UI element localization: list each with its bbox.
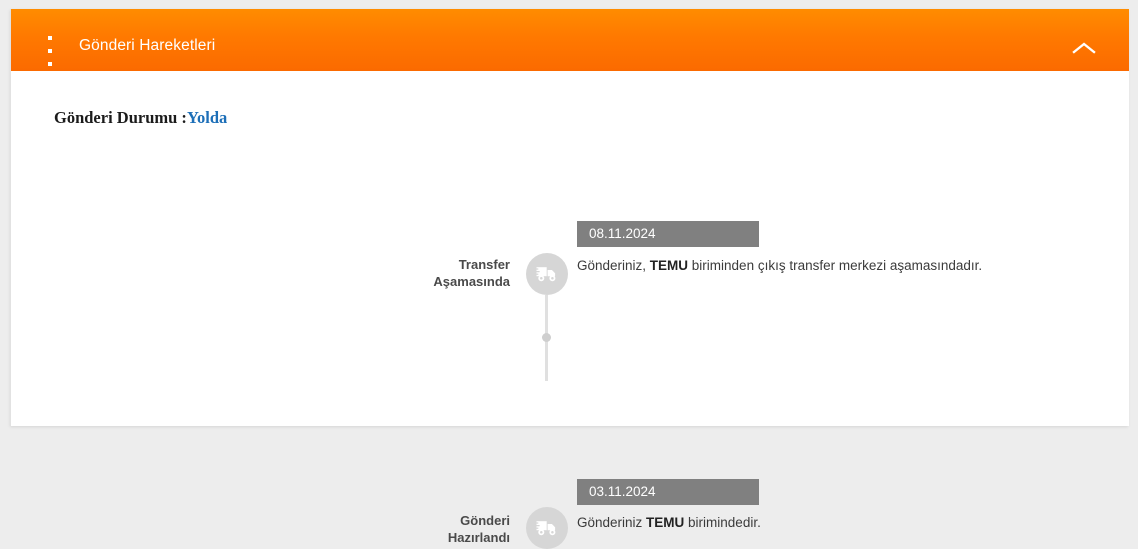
timeline-event-description: Gönderiniz, TEMU biriminden çıkış transf… xyxy=(577,258,982,273)
shipment-status-label: Gönderi Durumu : xyxy=(54,108,187,127)
shipment-movements-card: Gönderi Hareketleri Gönderi Durumu :Yold… xyxy=(10,9,1128,426)
timeline-event: Transfer Aşamasında xyxy=(11,151,1129,277)
desc-text-before: Gönderiniz xyxy=(577,515,646,530)
kebab-menu-icon[interactable] xyxy=(46,36,54,66)
shipment-status-value: Yolda xyxy=(187,108,227,127)
kebab-dot xyxy=(48,36,52,40)
desc-text-bold: TEMU xyxy=(650,258,688,273)
timeline-event-date: 08.11.2024 xyxy=(577,221,759,247)
timeline-event-label: Gönderi Hazırlandı xyxy=(350,512,510,546)
card-header: Gönderi Hareketleri xyxy=(11,9,1129,71)
chevron-up-icon[interactable] xyxy=(1067,31,1101,65)
timeline-event-description: Gönderiniz TEMU birimindedir. xyxy=(577,515,761,530)
timeline-event-label-line1: Transfer xyxy=(350,256,510,273)
timeline-event-label-line1: Gönderi xyxy=(350,512,510,529)
desc-text-before: Gönderiniz, xyxy=(577,258,650,273)
kebab-dot xyxy=(48,62,52,66)
timeline-event-date: 03.11.2024 xyxy=(577,479,759,505)
card-title: Gönderi Hareketleri xyxy=(79,37,215,55)
card-body: Gönderi Durumu :Yolda Transfer Aşamasınd… xyxy=(11,71,1129,426)
shipment-timeline: Transfer Aşamasında xyxy=(11,151,1129,403)
desc-text-bold: TEMU xyxy=(646,515,684,530)
timeline-event-label-line2: Hazırlandı xyxy=(350,529,510,546)
desc-text-after: birimindedir. xyxy=(684,515,761,530)
shipment-status: Gönderi Durumu :Yolda xyxy=(54,108,227,128)
desc-text-after: biriminden çıkış transfer merkezi aşamas… xyxy=(688,258,982,273)
kebab-dot xyxy=(48,49,52,53)
truck-icon xyxy=(526,507,568,549)
timeline-event: Gönderi Hazırlandı xyxy=(11,277,1129,403)
